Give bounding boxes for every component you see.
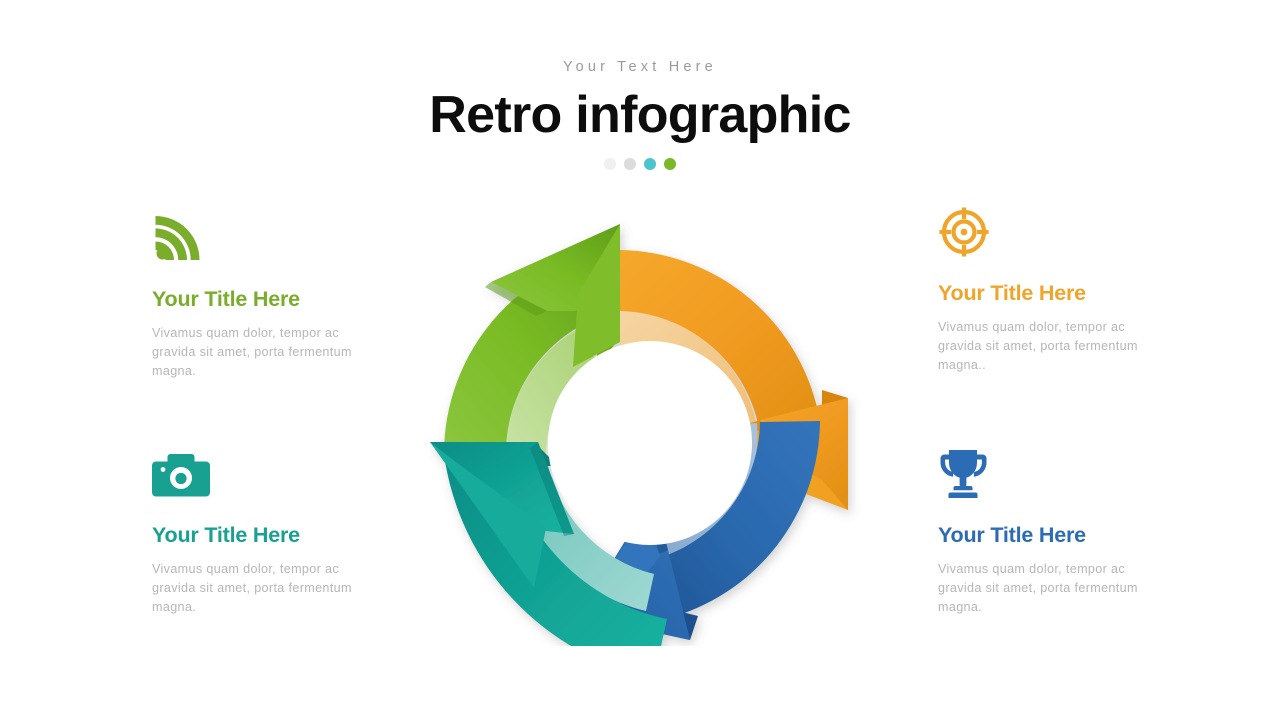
info-title: Your Title Here [152, 524, 382, 548]
camera-icon [152, 448, 382, 500]
dot-2 [624, 158, 636, 170]
dot-3 [644, 158, 656, 170]
info-block-bottom-right: Your Title Here Vivamus quam dolor, temp… [938, 448, 1168, 617]
target-icon [938, 206, 1168, 258]
eyebrow-text: Your Text Here [0, 60, 1280, 75]
slide-root: Your Text Here Retro infographic Your Ti… [0, 0, 1280, 720]
info-title: Your Title Here [938, 524, 1168, 548]
dot-1 [604, 158, 616, 170]
info-title: Your Title Here [938, 282, 1168, 306]
info-block-top-right: Your Title Here Vivamus quam dolor, temp… [938, 206, 1168, 375]
dot-4 [664, 158, 676, 170]
trophy-icon [938, 448, 1168, 500]
info-title: Your Title Here [152, 288, 382, 312]
info-body: Vivamus quam dolor, tempor ac gravida si… [938, 318, 1153, 375]
header: Your Text Here Retro infographic [0, 0, 1280, 170]
info-body: Vivamus quam dolor, tempor ac gravida si… [152, 324, 367, 381]
info-body: Vivamus quam dolor, tempor ac gravida si… [152, 560, 367, 617]
info-block-bottom-left: Your Title Here Vivamus quam dolor, temp… [152, 448, 382, 617]
info-body: Vivamus quam dolor, tempor ac gravida si… [938, 560, 1153, 617]
circular-arrow-cycle [430, 198, 870, 646]
page-title: Retro infographic [0, 88, 1280, 143]
info-block-top-left: Your Title Here Vivamus quam dolor, temp… [152, 212, 382, 381]
rss-icon [152, 212, 382, 264]
dot-indicator-group [0, 158, 1280, 170]
